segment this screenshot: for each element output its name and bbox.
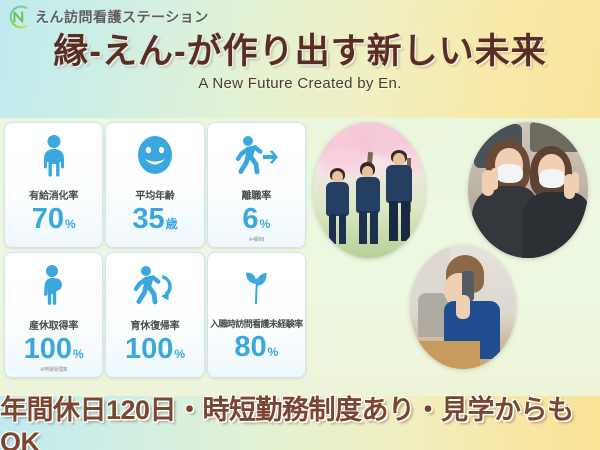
footer-benefits-text: 年間休日120日・時短勤務制度あり・見学からもOK	[0, 388, 600, 450]
stat-label: 有給消化率	[29, 187, 78, 202]
person-standing-icon	[37, 130, 71, 182]
poster-header: えん訪問看護ステーション 縁-えん-が作り出す新しい未来 A New Futur…	[0, 0, 600, 118]
smiley-face-icon	[134, 130, 176, 182]
stat-number: 6	[242, 205, 258, 234]
stat-label: 離職率	[242, 187, 271, 202]
stat-card-paid-leave: 有給消化率 70 %	[4, 122, 103, 248]
stat-unit: %	[65, 218, 76, 230]
photo-collage	[305, 118, 600, 396]
stat-label: 産休取得率	[29, 317, 78, 332]
stat-card-maternity-leave: 産休取得率 100 % ※申請受理率	[4, 252, 103, 378]
two-staff-peace-sign-photo	[468, 122, 588, 258]
stat-label: 入職時訪問看護未経験率	[210, 317, 302, 330]
stat-number: 100	[24, 335, 72, 364]
stat-value-wrap: 80 %	[234, 333, 278, 362]
sprout-leaf-icon	[236, 260, 276, 312]
stat-unit: %	[174, 348, 185, 360]
stat-number: 100	[125, 335, 173, 364]
poster-body: 有給消化率 70 % 平均年齢 35	[0, 118, 600, 396]
stat-value-wrap: 100 %	[125, 335, 185, 364]
brand-bar: えん訪問看護ステーション	[0, 0, 600, 30]
stat-card-average-age: 平均年齢 35 歳	[105, 122, 204, 248]
staff-group-cherry-blossom-photo	[313, 122, 425, 258]
stat-number: 35	[132, 205, 164, 234]
stat-note: ※申請受理率	[40, 366, 67, 373]
page-title: 縁-えん-が作り出す新しい未来	[0, 32, 600, 72]
staff-on-phone-photo	[410, 245, 516, 369]
stat-number: 70	[32, 205, 64, 234]
en-circle-logo-icon	[6, 4, 32, 30]
stats-card-grid: 有給消化率 70 % 平均年齢 35	[0, 122, 310, 378]
person-walking-arrow-icon	[232, 130, 280, 182]
page-subtitle: A New Future Created by En.	[0, 75, 600, 92]
stat-unit: %	[268, 346, 279, 358]
stat-number: 80	[234, 333, 266, 362]
stat-unit: %	[73, 348, 84, 360]
stat-card-turnover: 離職率 6 % ※4期目	[207, 122, 306, 248]
stat-value-wrap: 6 %	[242, 205, 270, 234]
stat-unit: 歳	[166, 218, 178, 230]
poster-footer: 年間休日120日・時短勤務制度あり・見学からもOK	[0, 396, 600, 450]
stat-value-wrap: 100 %	[24, 335, 84, 364]
pregnant-person-icon	[37, 260, 71, 312]
person-return-arrow-icon	[132, 260, 178, 312]
recruitment-poster: えん訪問看護ステーション 縁-えん-が作り出す新しい未来 A New Futur…	[0, 0, 600, 450]
brand-name: えん訪問看護ステーション	[35, 7, 209, 27]
stat-label: 平均年齢	[135, 187, 174, 202]
stat-card-no-experience-at-hire: 入職時訪問看護未経験率 80 %	[207, 252, 306, 378]
stat-value-wrap: 35 歳	[132, 205, 177, 234]
stat-note: ※4期目	[248, 236, 264, 243]
stat-label: 育休復帰率	[130, 317, 179, 332]
stat-card-return-from-childcare: 育休復帰率 100 %	[105, 252, 204, 378]
stat-value-wrap: 70 %	[32, 205, 76, 234]
stat-unit: %	[260, 218, 271, 230]
